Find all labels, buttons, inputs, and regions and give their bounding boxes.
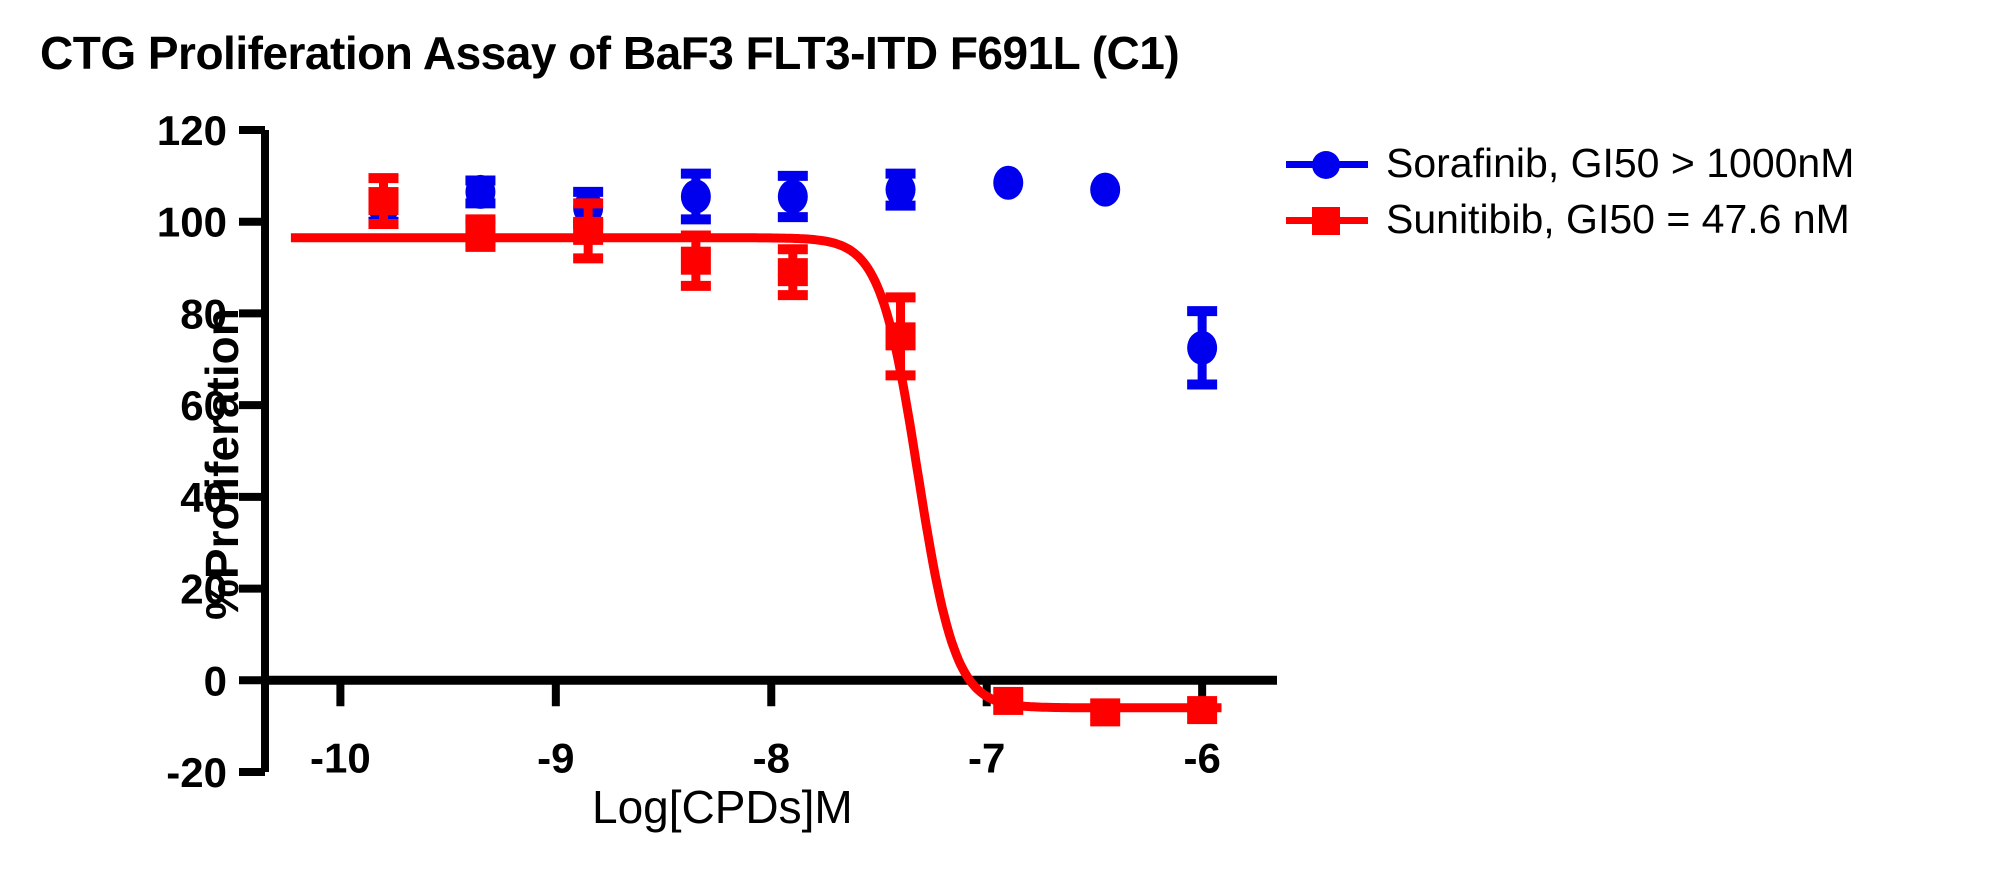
legend-item-sunitibib[interactable]: Sunitibib, GI50 = 47.6 nM <box>1286 191 1986 247</box>
y-tick-label--20: -20 <box>166 749 227 796</box>
data-point-0-5 <box>886 173 916 207</box>
x-axis-label: Log[CPDs]M <box>592 780 853 834</box>
data-point-0-4 <box>778 179 808 213</box>
data-point-1-7 <box>1090 698 1120 726</box>
legend-label-sorafinib: Sorafinib, GI50 > 1000nM <box>1368 140 1854 187</box>
data-point-1-2 <box>573 217 603 245</box>
x-tick-label--8: -8 <box>753 734 790 781</box>
data-point-0-8 <box>1187 331 1217 365</box>
y-tick-label-100: 100 <box>157 199 227 246</box>
y-tick-label-120: 120 <box>157 107 227 154</box>
chart-legend: Sorafinib, GI50 > 1000nM Sunitibib, GI50… <box>1286 135 1986 247</box>
data-point-1-5 <box>886 322 916 350</box>
y-axis-label: %Proliferation <box>195 308 249 620</box>
data-point-0-3 <box>681 179 711 213</box>
plot-area: -20020406080100120-10-9-8-7-6 <box>0 0 2003 876</box>
legend-symbol-1 <box>1312 207 1340 235</box>
data-point-0-1 <box>465 175 495 209</box>
data-point-1-0 <box>368 187 398 215</box>
x-tick-label--9: -9 <box>537 734 574 781</box>
data-point-1-1 <box>465 219 495 247</box>
data-point-1-4 <box>778 258 808 286</box>
x-tick-label--7: -7 <box>968 734 1005 781</box>
data-point-1-8 <box>1187 696 1217 724</box>
chart-generated-layer: -20020406080100120-10-9-8-7-6 <box>157 107 1277 796</box>
fit-curve-1 <box>291 238 1222 708</box>
legend-label-sunitibib: Sunitibib, GI50 = 47.6 nM <box>1368 196 1850 243</box>
y-tick-label-0: 0 <box>204 657 227 704</box>
series-1 <box>291 178 1222 726</box>
data-point-0-6 <box>993 166 1023 200</box>
data-point-1-3 <box>681 247 711 275</box>
legend-symbol-0 <box>1312 151 1340 179</box>
legend-item-sorafinib[interactable]: Sorafinib, GI50 > 1000nM <box>1286 135 1986 191</box>
data-point-1-6 <box>993 687 1023 715</box>
x-tick-label--10: -10 <box>310 734 371 781</box>
chart-root: CTG Proliferation Assay of BaF3 FLT3-ITD… <box>0 0 2003 876</box>
legend-circle-marker-icon <box>1286 143 1368 183</box>
x-tick-label--6: -6 <box>1183 734 1220 781</box>
legend-square-marker-icon <box>1286 199 1368 239</box>
data-point-0-7 <box>1090 173 1120 207</box>
chart-svg: -20020406080100120-10-9-8-7-6 <box>0 0 2003 876</box>
